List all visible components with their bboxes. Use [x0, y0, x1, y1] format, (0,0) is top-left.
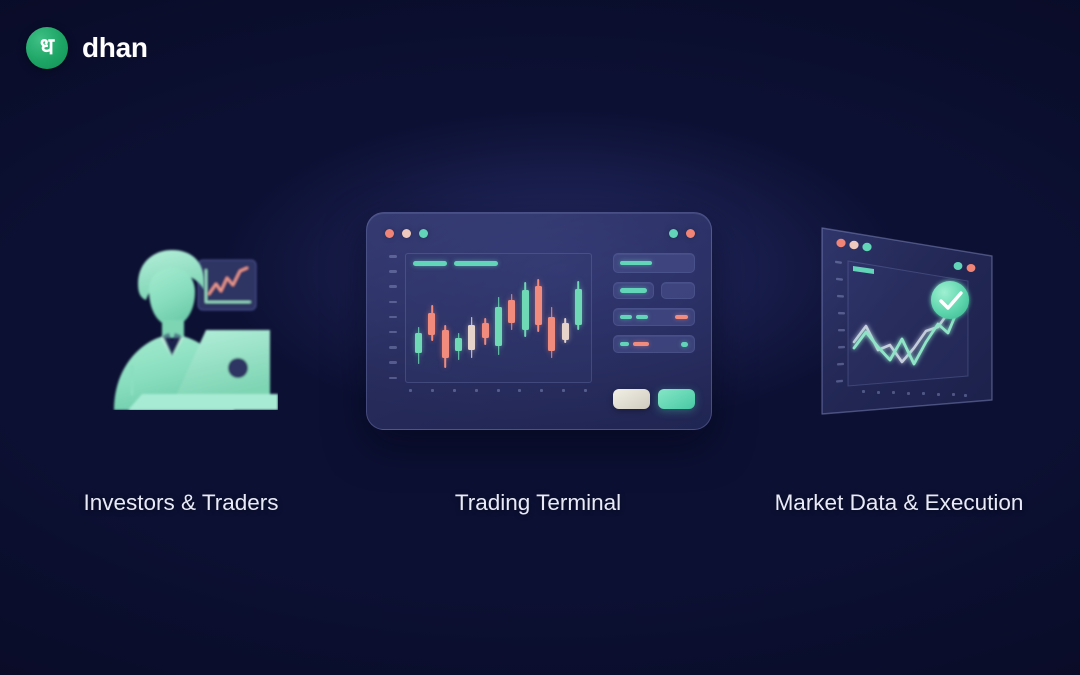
chart-legend [413, 261, 498, 266]
legend-bar [413, 261, 447, 266]
side-pill [636, 315, 648, 320]
side-pill [675, 315, 688, 320]
side-row-field-b[interactable] [661, 282, 695, 299]
panel-label-terminal: Trading Terminal [455, 490, 621, 516]
chart-y-axis [389, 255, 397, 379]
candle-body [442, 330, 449, 358]
side-row-quote-2[interactable] [613, 335, 695, 353]
panel-label-investors: Investors & Traders [83, 490, 278, 516]
side-row-field-a[interactable] [613, 282, 654, 299]
brand-name: dhan [82, 32, 148, 64]
window-dot-teal-icon [669, 229, 678, 238]
brand-logo: ध dhan [26, 27, 148, 69]
candle-body [522, 290, 529, 329]
candle-body [428, 313, 435, 334]
brand-glyph: ध [40, 36, 54, 59]
dhan-devanagari-logo-icon: ध [26, 27, 68, 69]
candle-body [468, 325, 475, 350]
tilted-window-line-chart-check [806, 214, 1006, 424]
candle-body [575, 289, 582, 325]
candle [562, 274, 569, 376]
chart-x-axis [409, 389, 587, 392]
slide-canvas: ध dhan [0, 0, 1080, 675]
legend-bar [454, 261, 498, 266]
mini-chart-panel [198, 260, 256, 310]
candle [455, 274, 462, 376]
side-row-search[interactable] [613, 253, 695, 273]
candle [495, 274, 502, 376]
candle [535, 274, 542, 376]
check-circle-icon [931, 281, 969, 319]
window-dots-right [669, 229, 695, 238]
candle-body [455, 338, 462, 351]
terminal-side-panel [613, 253, 695, 353]
candle-body [495, 307, 502, 346]
candle [442, 274, 449, 376]
candle-body [548, 317, 555, 352]
window-dot-cream-icon [402, 229, 411, 238]
side-row-quote-1[interactable] [613, 308, 695, 326]
person-with-laptop-icon [102, 238, 278, 410]
side-pill [620, 261, 652, 266]
secondary-action-button[interactable] [613, 389, 650, 409]
market-chart-area [848, 261, 968, 386]
candle [482, 274, 489, 376]
side-pill [681, 342, 688, 347]
window-dot-red-icon [686, 229, 695, 238]
candle [575, 274, 582, 376]
candle-body [482, 323, 489, 338]
primary-action-button[interactable] [658, 389, 695, 409]
candlestick-chart [405, 253, 592, 383]
side-pill [620, 342, 629, 347]
candle-body [535, 286, 542, 325]
candle [428, 274, 435, 376]
side-pill [620, 315, 632, 320]
window-dot-red-icon [385, 229, 394, 238]
window-dot-teal-icon [419, 229, 428, 238]
candle-body [508, 300, 515, 323]
side-pill [620, 288, 647, 293]
side-row-split [613, 282, 695, 299]
candle [522, 274, 529, 376]
candle-body [562, 323, 569, 339]
candle-body [415, 333, 422, 353]
terminal-buttons [613, 389, 695, 409]
panel-label-market: Market Data & Execution [775, 490, 1024, 516]
candle [468, 274, 475, 376]
window-dots-left [385, 229, 428, 238]
candle-series [412, 274, 585, 376]
trading-terminal-window [366, 212, 712, 430]
candle [548, 274, 555, 376]
candle [508, 274, 515, 376]
side-pill [633, 342, 649, 347]
candle [415, 274, 422, 376]
